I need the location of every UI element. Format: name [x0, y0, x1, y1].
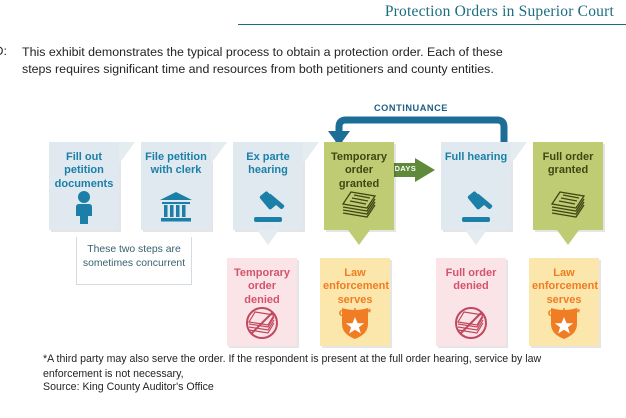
flow-branch-down-icon	[257, 230, 279, 245]
documents-denied-icon	[436, 304, 506, 342]
node-label: Ex parte hearing	[233, 151, 303, 178]
node-full-hearing[interactable]: Full hearing	[441, 142, 511, 230]
node-law-enforcement-serves-order-2[interactable]: Law enforcement serves order*	[529, 258, 599, 346]
node-fill-out-petition[interactable]: Fill out petition documents	[49, 142, 119, 230]
node-temporary-order-granted[interactable]: Temporary order granted	[324, 142, 394, 230]
documents-denied-icon	[227, 304, 297, 342]
node-label: File petition with clerk	[141, 151, 211, 178]
badge-star-icon	[320, 304, 390, 342]
node-label: Fill out petition documents	[49, 151, 119, 191]
badge-star-icon	[529, 304, 599, 342]
node-law-enforcement-serves-order-1[interactable]: Law enforcement serves order*	[320, 258, 390, 346]
node-full-order-denied[interactable]: Full order denied	[436, 258, 506, 346]
flow-branch-down-icon	[465, 230, 487, 245]
node-temporary-order-denied[interactable]: Temporary order denied	[227, 258, 297, 346]
flow-connector-chevron-icon	[511, 142, 527, 176]
node-label: Temporary order granted	[324, 151, 394, 191]
footnote-text: *A third party may also serve the order.…	[43, 352, 563, 381]
node-label: Full order granted	[533, 151, 603, 178]
concurrent-steps-note: These two steps are sometimes concurrent	[76, 237, 192, 285]
gavel-icon	[233, 188, 303, 226]
flow-branch-down-icon	[348, 230, 370, 245]
concurrent-steps-note-text: These two steps are sometimes concurrent	[77, 243, 191, 271]
flow-connector-chevron-icon	[211, 142, 227, 176]
gavel-icon	[441, 188, 511, 226]
node-label: Full order denied	[436, 267, 506, 294]
flow-branch-down-icon	[557, 230, 579, 245]
flow-connector-chevron-icon	[303, 142, 319, 176]
flow-connector-chevron-icon	[119, 142, 135, 176]
node-file-petition-with-clerk[interactable]: File petition with clerk	[141, 142, 211, 230]
source-line: Source: King County Auditor's Office	[43, 381, 214, 393]
node-ex-parte-hearing[interactable]: Ex parte hearing	[233, 142, 303, 230]
courthouse-icon	[141, 188, 211, 226]
documents-stack-icon	[324, 188, 394, 226]
node-label: Full hearing	[441, 151, 511, 164]
person-icon	[49, 188, 119, 226]
documents-stack-icon	[533, 188, 603, 226]
continuance-label: CONTINUANCE	[374, 103, 448, 113]
node-label: Temporary order denied	[227, 267, 297, 307]
node-full-order-granted[interactable]: Full order granted	[533, 142, 603, 230]
